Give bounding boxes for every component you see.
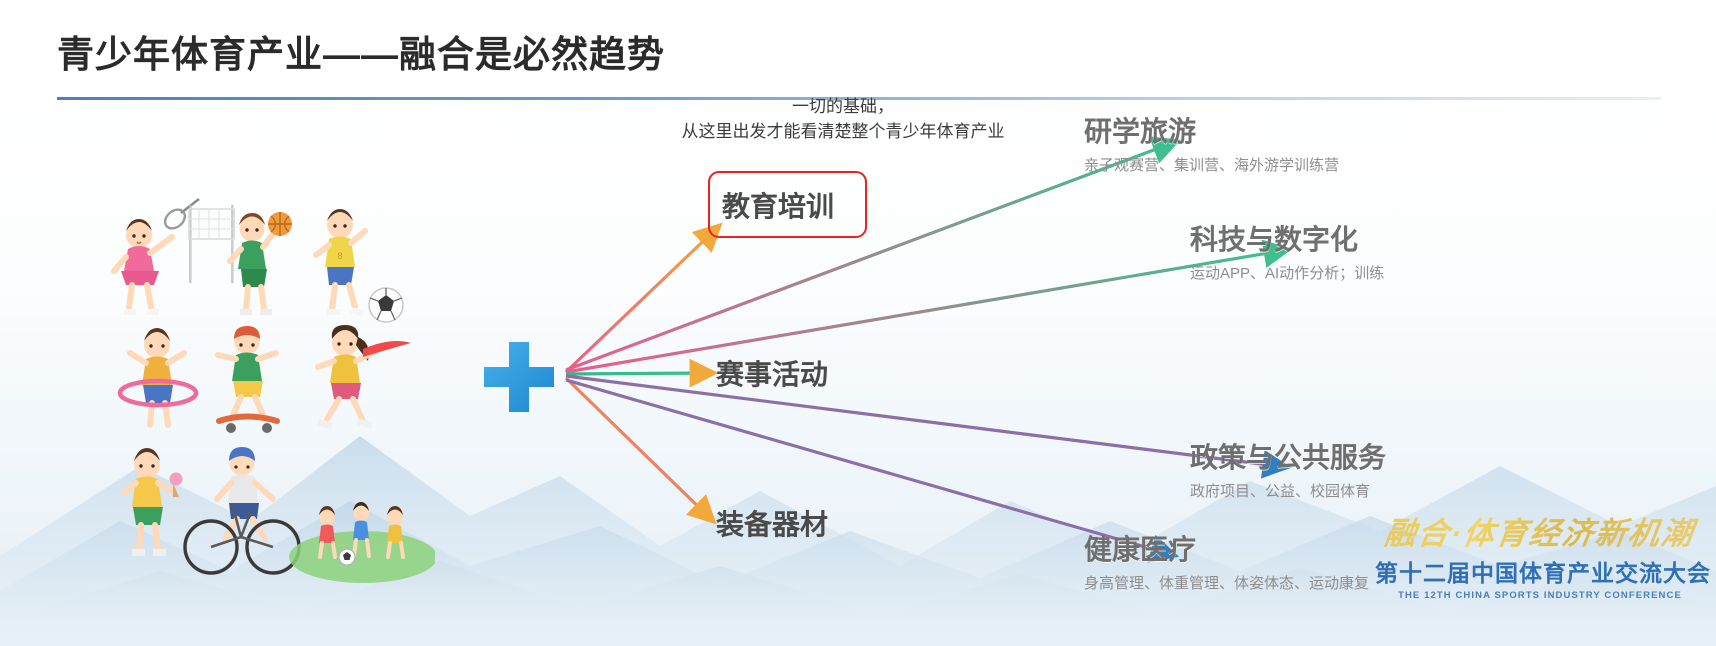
arrow-to-equipment [566, 378, 712, 520]
node-events-label[interactable]: 赛事活动 [716, 353, 828, 393]
node-education-label[interactable]: 教育培训 [722, 185, 834, 225]
node-equipment-label[interactable]: 装备器材 [716, 503, 828, 543]
node-tech-digital[interactable]: 科技与数字化 运动APP、AI动作分析；训练 [1190, 218, 1384, 283]
node-health-medical[interactable]: 健康医疗 身高管理、体重管理、体姿体态、运动康复 [1084, 528, 1369, 593]
arrow-to-events [566, 373, 712, 374]
node-tech-digital-subtitle: 运动APP、AI动作分析；训练 [1190, 262, 1384, 283]
node-health-medical-subtitle: 身高管理、体重管理、体姿体态、运动康复 [1084, 572, 1369, 593]
arrow-to-policy [566, 376, 1285, 467]
node-policy-service-subtitle: 政府项目、公益、校园体育 [1190, 480, 1386, 501]
node-policy-service[interactable]: 政策与公共服务 政府项目、公益、校园体育 [1190, 436, 1386, 501]
arrow-to-study-travel [566, 142, 1175, 370]
node-study-travel-subtitle: 亲子观赛营、集训营、海外游学训练营 [1084, 154, 1339, 175]
watermark-calligraphy: 融合·体育经济新机潮 [1372, 508, 1708, 553]
plus-icon[interactable] [482, 340, 556, 414]
node-study-travel-title: 研学旅游 [1084, 110, 1339, 150]
watermark-conference-name-en: THE 12TH CHINA SPORTS INDUSTRY CONFERENC… [1375, 590, 1705, 601]
watermark-conference-name: 第十二届中国体育产业交流大会 [1375, 554, 1705, 588]
node-tech-digital-title: 科技与数字化 [1190, 218, 1384, 258]
node-study-travel[interactable]: 研学旅游 亲子观赛营、集训营、海外游学训练营 [1084, 110, 1339, 175]
node-policy-service-title: 政策与公共服务 [1190, 436, 1386, 476]
node-health-medical-title: 健康医疗 [1084, 528, 1369, 568]
conference-watermark: 融合·体育经济新机潮 第十二届中国体育产业交流大会 THE 12TH CHINA… [1375, 508, 1705, 588]
